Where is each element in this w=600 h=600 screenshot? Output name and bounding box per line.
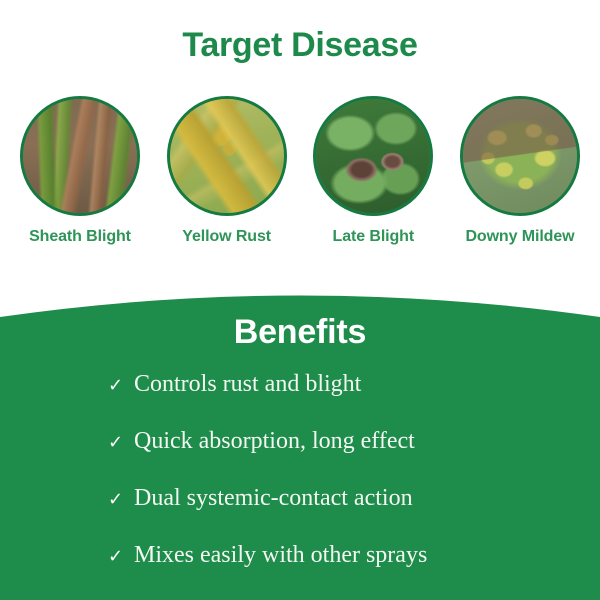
- benefits-title: Benefits: [0, 313, 600, 352]
- benefit-text: Dual systemic-contact action: [134, 486, 413, 510]
- disease-card-late-blight[interactable]: Late Blight: [311, 96, 435, 246]
- benefit-text: Mixes easily with other sprays: [134, 543, 427, 567]
- disease-label-late-blight: Late Blight: [333, 228, 415, 246]
- benefit-text: Quick absorption, long effect: [134, 429, 415, 453]
- disease-photo-late-blight: [313, 96, 433, 216]
- benefits-list: ✓ Controls rust and blight ✓ Quick absor…: [108, 372, 588, 600]
- grape-mildew-image: [463, 99, 577, 213]
- disease-label-yellow-rust: Yellow Rust: [182, 228, 271, 246]
- page-title: Target Disease: [0, 26, 600, 65]
- benefit-text: Controls rust and blight: [134, 372, 361, 396]
- list-item: ✓ Controls rust and blight: [108, 372, 588, 429]
- check-icon: ✓: [108, 434, 134, 452]
- disease-photo-downy-mildew: [460, 96, 580, 216]
- list-item: ✓ Mixes easily with other sprays: [108, 543, 588, 600]
- rice-stems-image: [23, 99, 137, 213]
- disease-card-yellow-rust[interactable]: Yellow Rust: [165, 96, 289, 246]
- wheat-rust-image: [170, 99, 284, 213]
- list-item: ✓ Quick absorption, long effect: [108, 429, 588, 486]
- disease-label-sheath-blight: Sheath Blight: [29, 228, 131, 246]
- check-icon: ✓: [108, 491, 134, 509]
- benefits-section: Benefits ✓ Controls rust and blight ✓ Qu…: [0, 280, 600, 600]
- potato-blight-image: [316, 99, 430, 213]
- disease-card-sheath-blight[interactable]: Sheath Blight: [18, 96, 142, 246]
- list-item: ✓ Dual systemic-contact action: [108, 486, 588, 543]
- disease-card-downy-mildew[interactable]: Downy Mildew: [458, 96, 582, 246]
- disease-label-downy-mildew: Downy Mildew: [465, 228, 574, 246]
- disease-photo-sheath-blight: [20, 96, 140, 216]
- disease-photo-yellow-rust: [167, 96, 287, 216]
- target-disease-section: Target Disease Sheath Blight Yellow Rust…: [0, 0, 600, 300]
- benefits-content: Benefits ✓ Controls rust and blight ✓ Qu…: [0, 280, 600, 600]
- check-icon: ✓: [108, 548, 134, 566]
- check-icon: ✓: [108, 377, 134, 395]
- disease-card-row: Sheath Blight Yellow Rust Late Blight Do…: [0, 96, 600, 246]
